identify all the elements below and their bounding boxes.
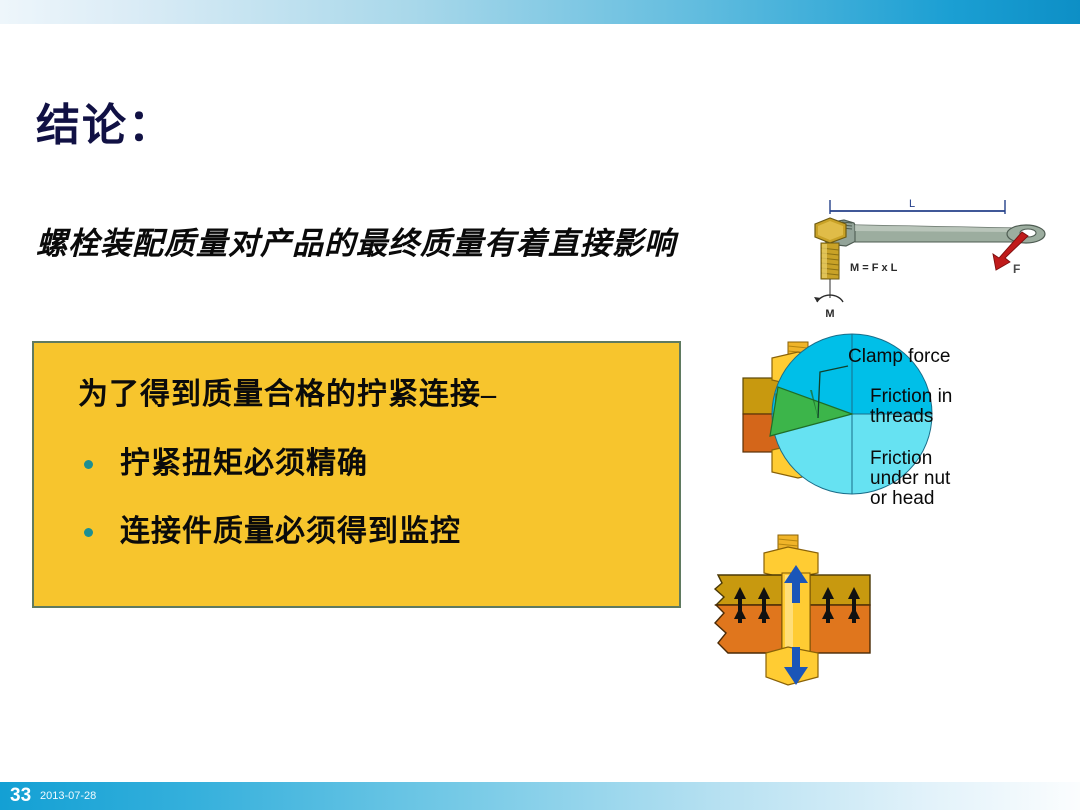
callout-lead-text: 为了得到质量合格的拧紧连接– [78, 377, 497, 413]
torque-wrench-figure: L M = F x L M F [800, 192, 1068, 320]
pie-label-threads-2: threads [870, 406, 933, 427]
pie-label-nut-1: Friction [870, 448, 932, 469]
wrench-label-force: F [1013, 262, 1020, 276]
pie-label-nut-3: or head [870, 488, 934, 509]
page-title: 结论： [36, 100, 174, 152]
friction-distribution-figure: Clamp force Friction in threads Friction… [700, 332, 1000, 532]
list-item-label: 拧紧扭矩必须精确 [120, 447, 368, 480]
conclusion-callout-box: 为了得到质量合格的拧紧连接– 拧紧扭矩必须精确 连接件质量必须得到监控 [32, 341, 681, 608]
pie-label-clamp-force: Clamp force [848, 346, 950, 367]
slide-canvas: 结论： 螺栓装配质量对产品的最终质量有着直接影响 为了得到质量合格的拧紧连接– … [0, 0, 1080, 810]
clamped-joint-figure [706, 527, 916, 722]
bottom-gradient-bar: 33 2013-07-28 [0, 782, 1080, 810]
page-number: 33 [10, 786, 31, 805]
bullet-dot-icon [84, 528, 93, 537]
pie-label-threads-1: Friction in [870, 386, 952, 407]
bullet-dot-icon [84, 460, 93, 469]
wrench-label-formula: M = F x L [850, 262, 898, 274]
list-item: 连接件质量必须得到监控 [78, 513, 638, 551]
list-item: 拧紧扭矩必须精确 [78, 445, 638, 483]
slide-date: 2013-07-28 [40, 790, 96, 802]
pie-label-nut-2: under nut [870, 468, 951, 489]
wrench-label-moment: M [825, 308, 834, 320]
top-gradient-bar [0, 0, 1080, 24]
wrench-label-length: L [909, 198, 915, 210]
list-item-label: 连接件质量必须得到监控 [120, 515, 461, 548]
page-subtitle: 螺栓装配质量对产品的最终质量有着直接影响 [36, 225, 676, 263]
callout-bullet-list: 拧紧扭矩必须精确 连接件质量必须得到监控 [78, 445, 638, 581]
